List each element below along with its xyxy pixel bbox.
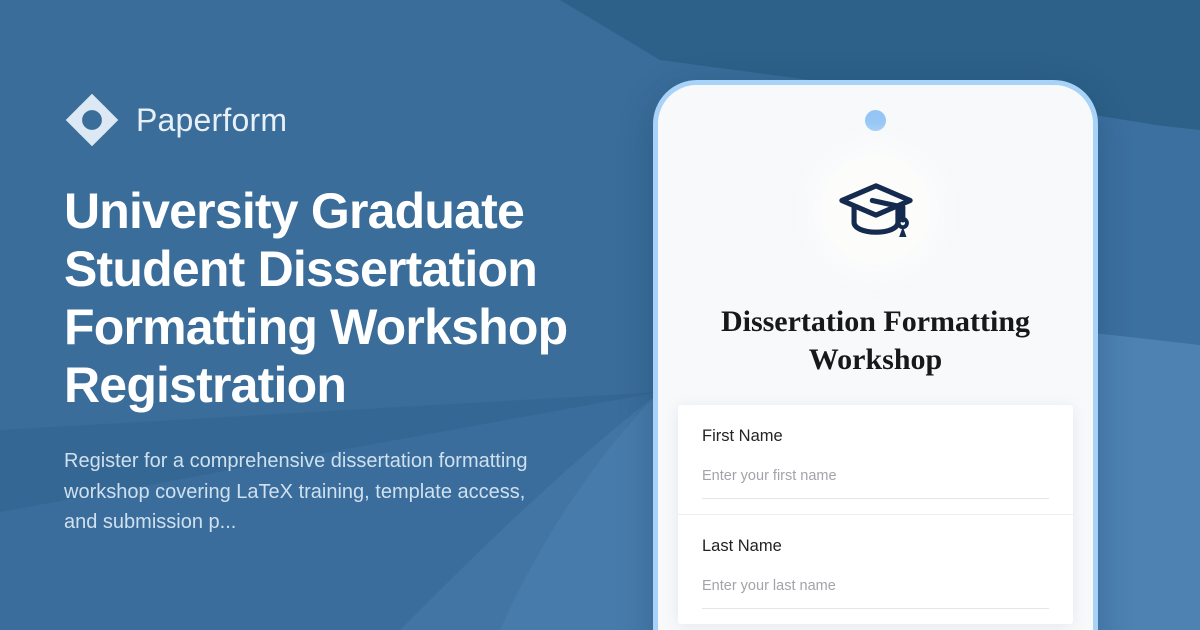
registration-form-card: First Name Last Name — [678, 405, 1073, 624]
phone-mockup: Dissertation Formatting Workshop First N… — [653, 80, 1098, 630]
field-spacer — [702, 499, 1049, 514]
field-spacer — [702, 609, 1049, 624]
page-subtitle: Register for a comprehensive dissertatio… — [64, 446, 534, 537]
page-title: University Graduate Student Dissertation… — [64, 182, 609, 414]
form-field-last-name: Last Name — [678, 515, 1073, 624]
graduation-cap-icon — [837, 170, 915, 248]
brand-name: Paperform — [136, 104, 287, 136]
share-card-canvas: Paperform University Graduate Student Di… — [0, 0, 1200, 630]
phone-screen: Dissertation Formatting Workshop First N… — [658, 85, 1093, 630]
camera-dot-icon — [865, 110, 886, 131]
hero-icon-halo — [822, 155, 930, 263]
form-field-first-name: First Name — [678, 405, 1073, 515]
hero-content: Paperform University Graduate Student Di… — [64, 0, 664, 630]
brand-lockup: Paperform — [64, 92, 664, 148]
first-name-input[interactable] — [702, 468, 1049, 499]
first-name-label: First Name — [702, 427, 1049, 447]
paperform-flower-logo-icon — [64, 92, 120, 148]
form-title: Dissertation Formatting Workshop — [691, 303, 1061, 379]
last-name-input[interactable] — [702, 578, 1049, 609]
last-name-label: Last Name — [702, 537, 1049, 557]
